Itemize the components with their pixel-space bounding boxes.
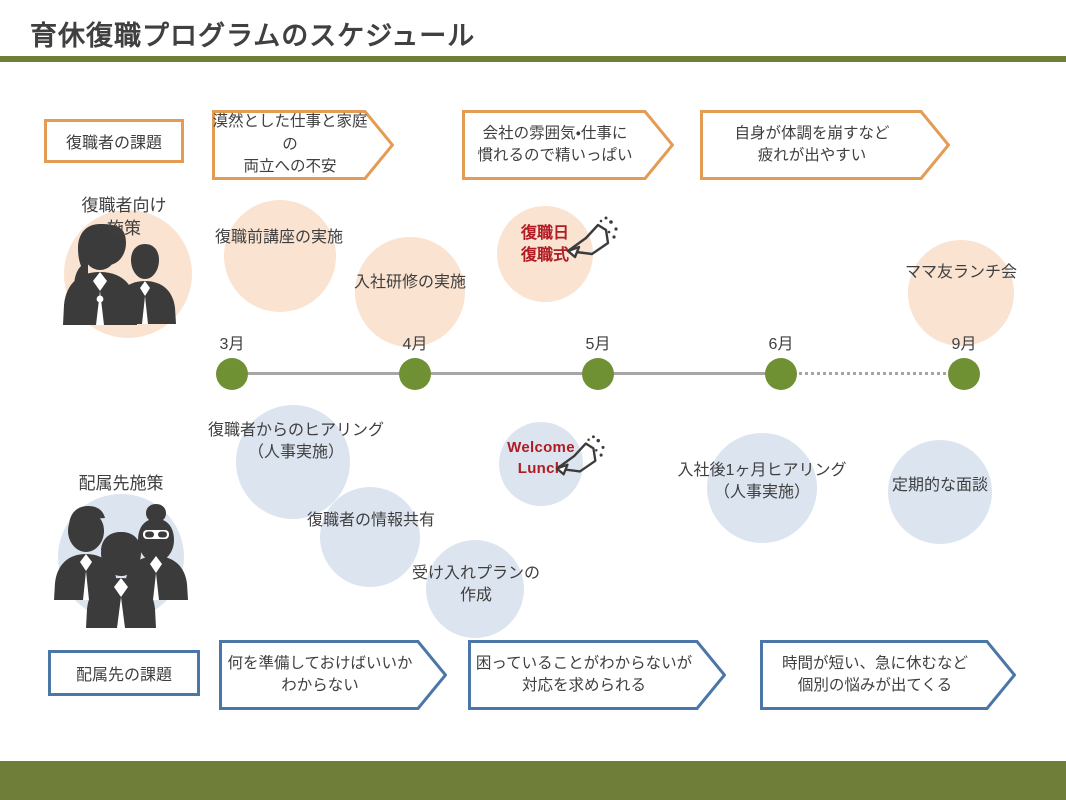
timeline-dot-2[interactable] bbox=[399, 358, 431, 390]
workplace-persona-group: 配属先施策 bbox=[42, 468, 200, 628]
workplace-issue-chevron-1: 何を準備しておけばいいか わからない bbox=[219, 640, 447, 710]
returnee-measure-label-1: 復職前講座の実施 bbox=[184, 227, 374, 249]
party-popper-icon bbox=[551, 432, 607, 482]
workplace-measure-label-2: 復職者の情報共有 bbox=[288, 510, 454, 532]
returnee-issue-chevron-3: 自身が体調を崩すなど 疲れが出やすい bbox=[700, 110, 950, 180]
returnee-issue-chevron-2: 会社の雰囲気・仕事に 慣れるので精いっぱい bbox=[462, 110, 674, 180]
workplace-measure-label-1: 復職者からのヒアリング （人事実施） bbox=[193, 420, 399, 465]
timeline-month-4: 6月 bbox=[751, 330, 811, 354]
workplace-measure-label-3: 受け入れプランの 作成 bbox=[402, 563, 550, 608]
timeline-month-5: 9月 bbox=[934, 330, 994, 354]
returnee-issue-chevron-1: 漠然とした仕事と家庭の 両立への不安 bbox=[212, 110, 394, 180]
timeline-segment-2 bbox=[415, 372, 598, 375]
workplace-issue-chevron-3: 時間が短い、急に休むなど 個別の悩みが出てくる bbox=[760, 640, 1016, 710]
returnee-measure-label-2: 入社研修の実施 bbox=[320, 272, 500, 294]
timeline-segment-1 bbox=[232, 372, 415, 375]
party-popper-icon bbox=[562, 213, 620, 265]
returnee-persona-title: 復職者向け 施策 bbox=[44, 195, 204, 241]
timeline-dot-3[interactable] bbox=[582, 358, 614, 390]
footer-bar bbox=[0, 761, 1066, 800]
slide-canvas: 育休復職プログラムのスケジュール 復職者の課題 漠然とした仕事と家庭の 両立への… bbox=[0, 0, 1066, 800]
timeline-dot-1[interactable] bbox=[216, 358, 248, 390]
timeline-dot-5[interactable] bbox=[948, 358, 980, 390]
returnee-persona-group: 復職者向け 施策 bbox=[50, 196, 190, 346]
timeline-dot-4[interactable] bbox=[765, 358, 797, 390]
timeline-segment-4-dotted bbox=[781, 372, 964, 375]
page-title: 育休復職プログラムのスケジュール bbox=[30, 14, 475, 53]
timeline-segment-3 bbox=[598, 372, 781, 375]
title-rule-divider bbox=[0, 56, 1066, 62]
workplace-measure-label-6: 定期的な面談 bbox=[869, 475, 1011, 497]
chevron-text: 漠然とした仕事と家庭の 両立への不安 bbox=[212, 111, 394, 178]
workplace-issues-label: 配属先の課題 bbox=[48, 650, 200, 696]
timeline-month-2: 4月 bbox=[385, 330, 445, 354]
chevron-text: 何を準備しておけばいいか わからない bbox=[227, 653, 438, 698]
workplace-persona-title: 配属先施策 bbox=[36, 473, 206, 496]
returnee-issues-label: 復職者の課題 bbox=[44, 119, 184, 163]
chevron-text: 会社の雰囲気・仕事に 慣れるので精いっぱい bbox=[477, 123, 658, 168]
timeline-month-1: 3月 bbox=[202, 330, 262, 354]
returnee-measure-label-4: ママ友ランチ会 bbox=[876, 262, 1046, 284]
chevron-text: 自身が体調を崩すなど 疲れが出やすい bbox=[734, 123, 915, 168]
chevron-text: 困っていることがわからないが 対応を求められる bbox=[476, 653, 718, 698]
workplace-measure-label-5: 入社後1ヶ月ヒアリング （人事実施） bbox=[659, 460, 865, 505]
workplace-issue-chevron-2: 困っていることがわからないが 対応を求められる bbox=[468, 640, 726, 710]
timeline-month-3: 5月 bbox=[568, 330, 628, 354]
chevron-text: 時間が短い、急に休むなど 個別の悩みが出てくる bbox=[782, 653, 994, 698]
returnee-measure-bubble-1 bbox=[224, 200, 336, 312]
